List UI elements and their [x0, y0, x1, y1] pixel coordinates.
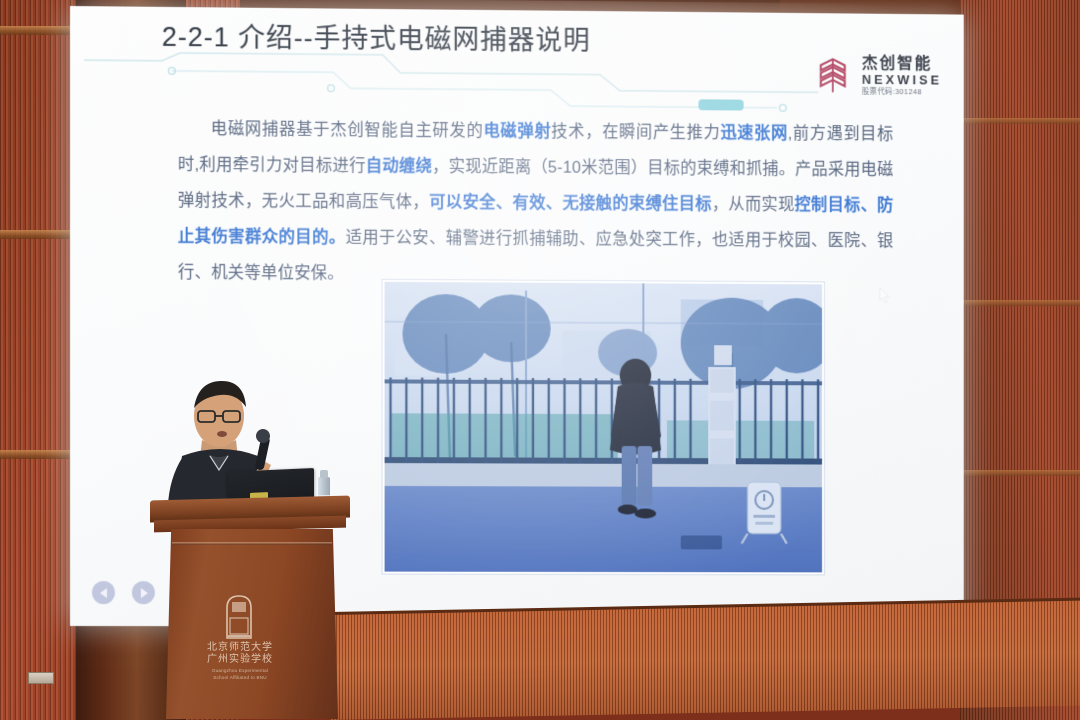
chevron-left-icon [99, 588, 106, 598]
bottle-cap [320, 470, 328, 478]
wall-plate [28, 672, 54, 684]
wall-trim-band [960, 118, 1080, 124]
mouse-cursor [879, 287, 891, 305]
wainscot-wall [330, 601, 1080, 720]
photo-content [385, 282, 822, 573]
podium-groove [172, 542, 332, 545]
photo-illustration [385, 282, 822, 573]
podium-school-name-en: Guangzhou Experimental School Affiliated… [190, 668, 290, 681]
logo-stock-code: 股票代码:301248 [862, 88, 942, 96]
logo-name-en: NEXWISE [862, 73, 942, 87]
school-crest-icon [208, 594, 270, 642]
body-text-highlight: 可以安全、有效、无接触的束缚住目标 [429, 194, 712, 214]
body-text-highlight: 自动缠绕 [366, 157, 432, 175]
nexwise-logo-icon [812, 55, 853, 97]
lecture-hall-scene: 2-2-1 介绍--手持式电磁网捕器说明 [0, 0, 1080, 720]
podium-line2: 广州实验学校 [196, 654, 284, 666]
previous-slide-button[interactable] [92, 581, 115, 604]
chevron-right-icon [140, 588, 147, 598]
body-text-run: 技术，在瞬间产生推力 [551, 123, 720, 142]
body-text-run: ，从而实现 [712, 196, 795, 214]
wall-trim-band [960, 300, 1080, 306]
podium-line1: 北京师范大学 [196, 642, 284, 654]
body-text-highlight: 电磁弹射 [483, 122, 551, 140]
slide-body-text: 电磁网捕器基于杰创智能自主研发的电磁弹射技术，在瞬间产生推力迅速张网,前方遇到目… [178, 111, 894, 295]
logo-name-cn: 杰创智能 [862, 56, 942, 73]
podium-en-line2: School Affiliated to BNU [190, 675, 290, 682]
podium-school-name-cn: 北京师范大学 广州实验学校 [196, 642, 284, 666]
wall-trim-band [960, 470, 1080, 476]
company-logo: 杰创智能 NEXWISE 股票代码:301248 [812, 55, 942, 98]
body-text-highlight: 迅速张网 [720, 124, 787, 142]
body-text-run: 电磁网捕器基于杰创智能自主研发的 [211, 120, 484, 140]
slide-photo [383, 280, 824, 575]
podium: 北京师范大学 广州实验学校 Guangzhou Experimental Sch… [150, 498, 350, 720]
